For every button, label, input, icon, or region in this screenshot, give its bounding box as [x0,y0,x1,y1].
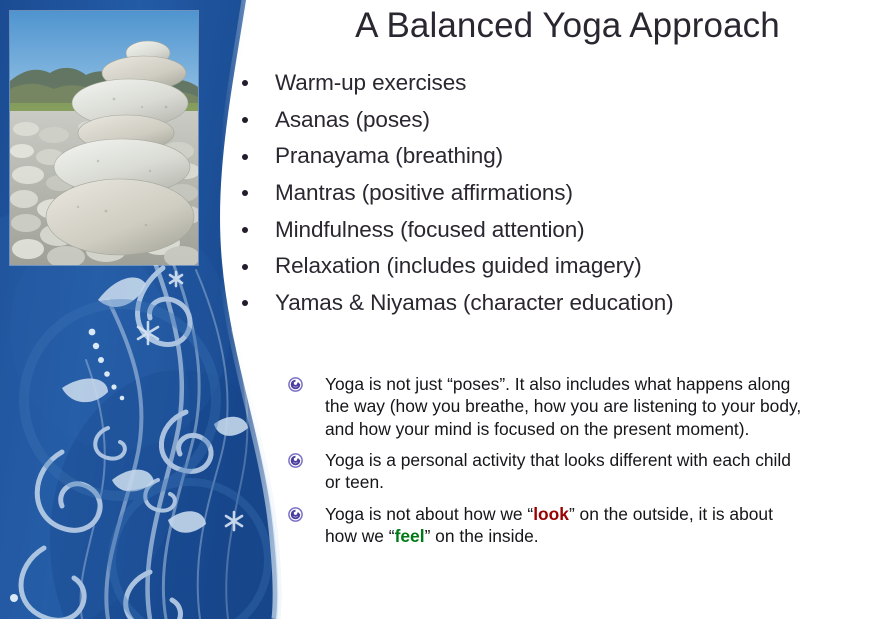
dot-bullet-icon [242,154,248,160]
main-bullet-list: Warm-up exercises Asanas (poses) Pranaya… [236,72,876,329]
main-bullet-item: Relaxation (includes guided imagery) [236,255,876,278]
keyword-look: look [533,504,569,524]
main-bullet-label: Relaxation (includes guided imagery) [275,253,642,278]
dot-bullet-icon [242,190,248,196]
main-bullet-item: Warm-up exercises [236,72,876,95]
dot-bullet-icon [242,117,248,123]
sub-bullet-item: Yoga is not about how we “look” on the o… [286,503,806,548]
sub-bullet-label: Yoga is a personal activity that looks d… [325,450,791,492]
main-bullet-label: Mantras (positive affirmations) [275,180,573,205]
sub-bullet-label: Yoga is not just “poses”. It also includ… [325,374,801,439]
sub-bullet-item: Yoga is a personal activity that looks d… [286,449,806,494]
spiral-swirl-icon [288,505,303,520]
main-bullet-item: Mindfulness (focused attention) [236,219,876,242]
main-bullet-item: Yamas & Niyamas (character education) [236,292,876,315]
keyword-feel: feel [395,526,425,546]
main-bullet-label: Pranayama (breathing) [275,143,503,168]
dot-bullet-icon [242,300,248,306]
main-bullet-label: Yamas & Niyamas (character education) [275,290,674,315]
sub-bullet-label: Yoga is not about how we “look” on the o… [325,504,773,546]
main-bullet-item: Asanas (poses) [236,109,876,132]
sub-bullet-text-part: Yoga is not about how we “ [325,504,533,524]
stone-cairn-image [10,11,198,265]
spiral-swirl-icon [288,375,303,390]
slide-canvas: A Balanced Yoga Approach Warm-up exercis… [0,0,885,619]
main-bullet-item: Pranayama (breathing) [236,145,876,168]
main-bullet-item: Mantras (positive affirmations) [236,182,876,205]
main-bullet-label: Mindfulness (focused attention) [275,217,585,242]
sub-bullet-text-part: ” on the inside. [425,526,539,546]
dot-bullet-icon [242,264,248,270]
sub-bullet-item: Yoga is not just “poses”. It also includ… [286,373,806,440]
dot-bullet-icon [242,227,248,233]
dot-bullet-icon [242,80,248,86]
spiral-swirl-icon [288,451,303,466]
main-bullet-label: Asanas (poses) [275,107,430,132]
slide-title: A Balanced Yoga Approach [255,6,880,46]
sub-bullet-list: Yoga is not just “poses”. It also includ… [286,373,806,557]
stone-cairn-photo [10,11,198,265]
main-bullet-label: Warm-up exercises [275,70,466,95]
